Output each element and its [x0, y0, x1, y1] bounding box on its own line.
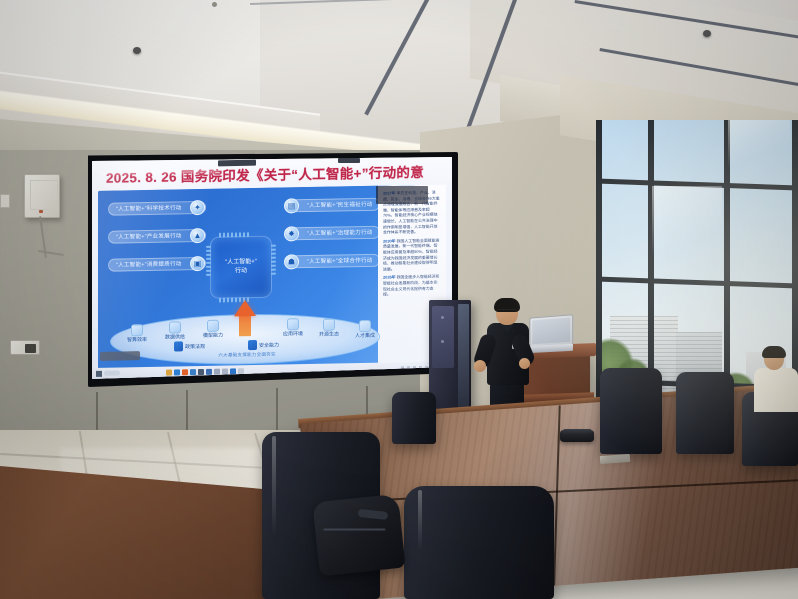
cloud-icon [207, 320, 219, 332]
foundation-item: 数据供给 [158, 321, 192, 342]
presenter-left-hand [474, 360, 486, 372]
home-icon [287, 318, 299, 330]
database-icon [169, 321, 181, 333]
upward-arrow-stem [239, 314, 251, 336]
seated-attendee [752, 348, 798, 412]
attendee-body [754, 368, 798, 412]
foundation-item-label: 人才集成 [355, 333, 375, 339]
side-paragraph-text: 率先在科技、产业、消费、民生、治理、全球合作6大重点领域深度融合，新一代智能终端… [383, 190, 440, 235]
speakerphone-top [562, 429, 593, 434]
wechat-icon[interactable] [190, 369, 196, 375]
side-paragraph: 2030年 我国人工智能全面赋能高质量发展，新一代智能终端、智能体应用普及率超9… [383, 237, 441, 272]
pdf-icon[interactable] [198, 368, 204, 374]
chair-behind-table[interactable] [392, 392, 436, 444]
presentation-slide: 2025. 8. 26 国务院印发《关于“人工智能+”行动的意 “人工智能+”科… [92, 157, 452, 379]
slide-action-right-1: “人工智能+”民生福祉行动 [288, 198, 380, 213]
folder-icon[interactable] [166, 369, 172, 375]
office-icon[interactable] [182, 369, 188, 375]
rack-indicator-icon [441, 340, 444, 343]
backpack-strap [358, 509, 389, 520]
upward-arrow-icon [234, 300, 256, 316]
ceiling-sprinkler [212, 2, 217, 7]
foundation-item-label: 安全能力 [259, 341, 279, 348]
ceiling-grid-line [250, 0, 480, 5]
display-screen[interactable]: 2025. 8. 26 国务院印发《关于“人工智能+”行动的意 “人工智能+”科… [92, 157, 452, 379]
slide-center-node: “人工智能+” 行动 [210, 236, 272, 299]
side-paragraph-head: 2035年 [383, 275, 396, 280]
windows-start-icon[interactable] [96, 370, 102, 376]
backpack-zipper [323, 528, 385, 530]
presenter-right-hand [519, 358, 530, 369]
room-scene: 2025. 8. 26 国务院印发《关于“人工智能+”行动的意 “人工智能+”科… [0, 0, 798, 599]
wall-speaker [24, 174, 60, 218]
glasses-icon [498, 309, 516, 313]
wall-outlet [0, 194, 10, 208]
light-switch[interactable] [10, 340, 40, 355]
center-node-line1: “人工智能+” [225, 258, 257, 268]
document-icon [174, 341, 183, 351]
foundation-item: 人才集成 [348, 320, 382, 341]
attendee-hair [762, 346, 786, 358]
ceiling-grid-line [364, 0, 433, 115]
chair-far-right-2[interactable] [676, 372, 734, 454]
foundation-item-label: 应用环境 [283, 331, 303, 337]
slide-body: “人工智能+”科学技术行动 ✦ “人工智能+”产业发展行动 ▲ “人工智能+”消… [98, 185, 446, 371]
foundation-item-label: 开源生态 [319, 331, 339, 337]
ceiling-spotlight [703, 30, 711, 37]
foundation-item-label: 数据供给 [165, 334, 185, 340]
center-node-line2: 行动 [235, 267, 247, 276]
foundation-item-secondary: 政策法规 [174, 341, 218, 352]
foundation-item: 模型能力 [196, 319, 230, 340]
taskbar-tooltip [100, 351, 140, 361]
foundation-item-label: 智算效率 [127, 337, 147, 343]
settings-icon[interactable] [230, 368, 236, 374]
slide-action-right-2: “人工智能+”治理能力行动 [288, 226, 380, 241]
edge-icon[interactable] [174, 369, 180, 375]
mail-icon[interactable] [222, 368, 228, 374]
speaker-led-icon [39, 210, 43, 213]
rack-indicator-icon [441, 316, 444, 319]
ceiling-spotlight [133, 47, 141, 54]
foundation-item: 智算效率 [120, 324, 154, 345]
app-icon[interactable] [238, 368, 244, 374]
share-icon [323, 319, 335, 331]
search-input[interactable] [104, 370, 120, 375]
foundation-item-label: 模型能力 [203, 333, 223, 339]
user-icon [359, 320, 371, 332]
player-icon[interactable] [206, 368, 212, 374]
foundation-item-label: 政策法规 [185, 342, 205, 349]
chair-foreground-center[interactable] [404, 486, 554, 599]
side-paragraph-head: 2027年 [383, 190, 396, 195]
chair-far-right[interactable] [600, 368, 662, 454]
shield-icon [248, 340, 257, 350]
slide-title: 2025. 8. 26 国务院印发《关于“人工智能+”行动的意 [106, 160, 452, 186]
backpack-on-chair[interactable] [312, 494, 405, 577]
side-paragraph: 2027年 率先在科技、产业、消费、民生、治理、全球合作6大重点领域深度融合，新… [383, 190, 441, 236]
chip-icon [131, 324, 143, 336]
foundation-item: 开源生态 [312, 318, 346, 339]
foundation-item-secondary: 安全能力 [248, 339, 292, 350]
side-paragraph-head: 2030年 [383, 238, 396, 243]
chart-icon[interactable] [214, 368, 220, 374]
laptop-screen [532, 318, 570, 345]
slide-action-right-3: “人工智能+”全球合作行动 [288, 254, 380, 269]
foundation-item: 应用环境 [276, 318, 310, 339]
side-paragraph: 2035年 我国全面步入智能经济和智能社会发展新阶段，为基本实现社会主义现代化提… [383, 274, 441, 297]
